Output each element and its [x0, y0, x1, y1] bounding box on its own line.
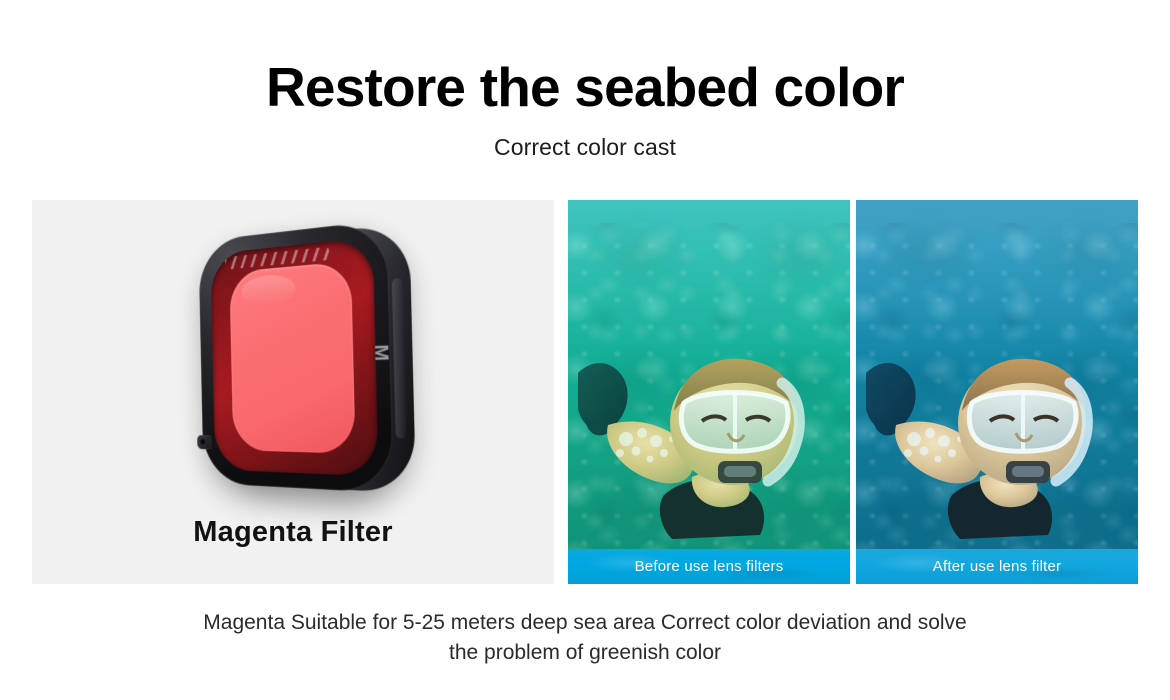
photo-panel-before: Before use lens filters — [568, 200, 850, 584]
caption-after-text: After use lens filter — [933, 558, 1061, 575]
magenta-filter-graphic: M — [198, 218, 410, 499]
underwater-photo-before — [568, 200, 850, 584]
caption-after: After use lens filter — [856, 549, 1138, 584]
filter-pull-tab — [197, 435, 211, 449]
filter-frame: M — [198, 220, 394, 494]
caption-before-text: Before use lens filters — [635, 558, 784, 575]
caption-before: Before use lens filters — [568, 549, 850, 584]
filter-product-image: M — [32, 218, 554, 508]
underwater-photo-after — [856, 200, 1138, 584]
filter-m-marking: M — [369, 344, 391, 362]
product-label: Magenta Filter — [32, 516, 554, 549]
comparison-row: M Magenta Filter — [32, 200, 1138, 584]
product-description: Magenta Suitable for 5-25 meters deep se… — [0, 608, 1170, 668]
page-header: Restore the seabed color Correct color c… — [0, 0, 1170, 161]
photo-panel-after: After use lens filter — [856, 200, 1138, 584]
page-subtitle: Correct color cast — [0, 117, 1170, 161]
snorkeler-figure — [568, 299, 850, 549]
filter-inner-ring — [210, 237, 378, 477]
snorkeler-figure — [856, 299, 1138, 549]
description-line-2: the problem of greenish color — [0, 638, 1170, 668]
page-title: Restore the seabed color — [0, 0, 1170, 117]
product-panel: M Magenta Filter — [32, 200, 554, 584]
description-line-1: Magenta Suitable for 5-25 meters deep se… — [0, 608, 1170, 638]
filter-magenta-glass — [229, 261, 355, 454]
